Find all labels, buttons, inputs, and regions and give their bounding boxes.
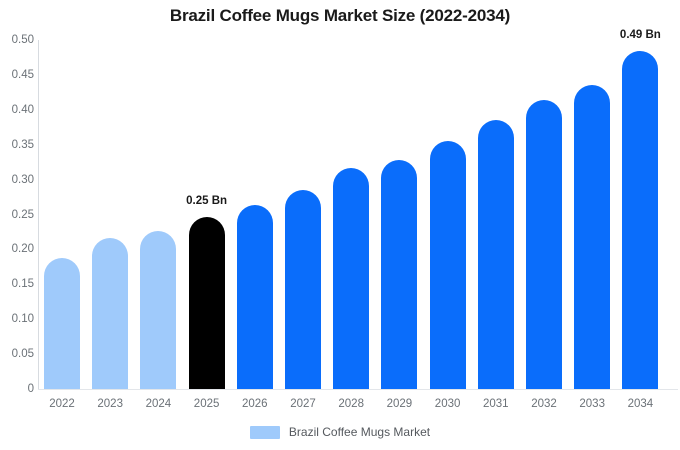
x-axis-tick-label-2022: 2022 — [49, 398, 75, 410]
x-axis-tick-label-2032: 2032 — [531, 398, 557, 410]
x-axis-tick-label-2030: 2030 — [435, 398, 461, 410]
x-axis-tick-label-2028: 2028 — [338, 398, 364, 410]
x-axis-tick-label-2023: 2023 — [97, 398, 123, 410]
x-axis-tick-label-2034: 2034 — [628, 398, 654, 410]
chart-legend: Brazil Coffee Mugs Market — [0, 425, 680, 439]
chart-container: Brazil Coffee Mugs Market Size (2022-203… — [0, 0, 680, 450]
x-axis-tick-label-2033: 2033 — [579, 398, 605, 410]
x-axis-tick-label-2025: 2025 — [194, 398, 220, 410]
x-axis-tick-label-2031: 2031 — [483, 398, 509, 410]
x-axis-tick-labels: 2022202320242025202620272028202920302031… — [0, 0, 680, 450]
legend-label: Brazil Coffee Mugs Market — [289, 425, 430, 439]
x-axis-tick-label-2029: 2029 — [387, 398, 413, 410]
legend-swatch-icon — [250, 426, 280, 439]
x-axis-tick-label-2027: 2027 — [290, 398, 316, 410]
x-axis-tick-label-2024: 2024 — [146, 398, 172, 410]
x-axis-tick-label-2026: 2026 — [242, 398, 268, 410]
